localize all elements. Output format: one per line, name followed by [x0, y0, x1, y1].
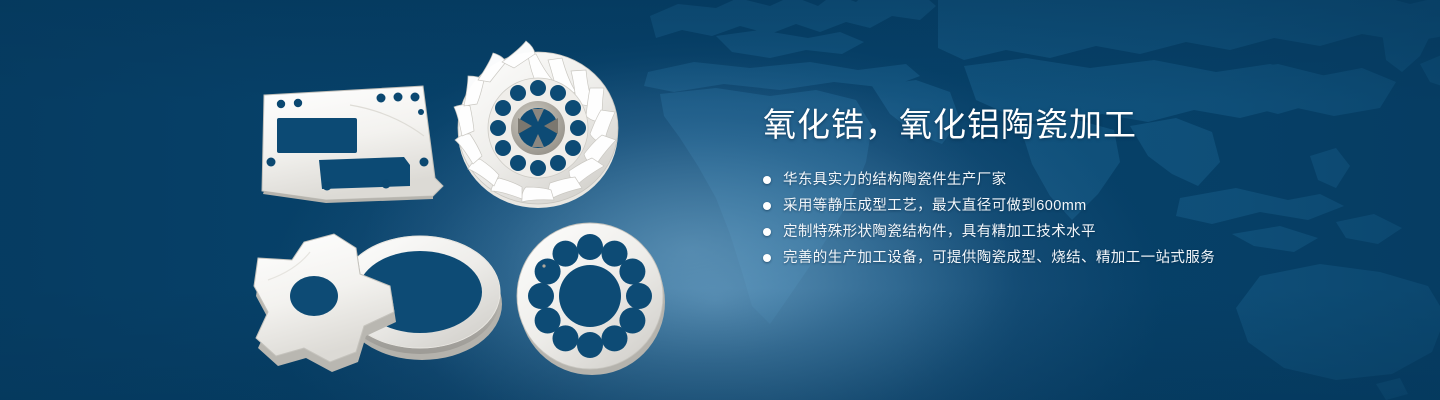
list-item: 华东具实力的结构陶瓷件生产厂家 — [763, 168, 1403, 192]
bullet-dot-icon — [763, 228, 771, 236]
list-item: 采用等静压成型工艺，最大直径可做到600mm — [763, 194, 1403, 218]
page-title: 氧化锆，氧化铝陶瓷加工 — [763, 104, 1403, 146]
ceramic-impeller-disc — [454, 41, 618, 208]
bullet-dot-icon — [763, 176, 771, 184]
ceramic-perforated-disc — [517, 223, 665, 375]
bullet-dot-icon — [763, 202, 771, 210]
list-item: 完善的生产加工设备，可提供陶瓷成型、烧结、精加工一站式服务 — [763, 246, 1403, 270]
list-item-label: 采用等静压成型工艺，最大直径可做到600mm — [783, 194, 1087, 218]
list-item-label: 定制特殊形状陶瓷结构件，具有精加工技术水平 — [783, 220, 1096, 244]
product-photo-montage — [0, 0, 720, 400]
list-item: 定制特殊形状陶瓷结构件，具有精加工技术水平 — [763, 220, 1403, 244]
feature-list: 华东具实力的结构陶瓷件生产厂家 采用等静压成型工艺，最大直径可做到600mm 定… — [763, 168, 1403, 270]
hero-banner: 氧化锆，氧化铝陶瓷加工 华东具实力的结构陶瓷件生产厂家 采用等静压成型工艺，最大… — [0, 0, 1440, 400]
bullet-dot-icon — [763, 254, 771, 262]
banner-copy: 氧化锆，氧化铝陶瓷加工 华东具实力的结构陶瓷件生产厂家 采用等静压成型工艺，最大… — [763, 104, 1403, 272]
ceramic-plate-with-cutouts — [262, 86, 443, 203]
list-item-label: 完善的生产加工设备，可提供陶瓷成型、烧结、精加工一站式服务 — [783, 246, 1215, 270]
list-item-label: 华东具实力的结构陶瓷件生产厂家 — [783, 168, 1007, 192]
